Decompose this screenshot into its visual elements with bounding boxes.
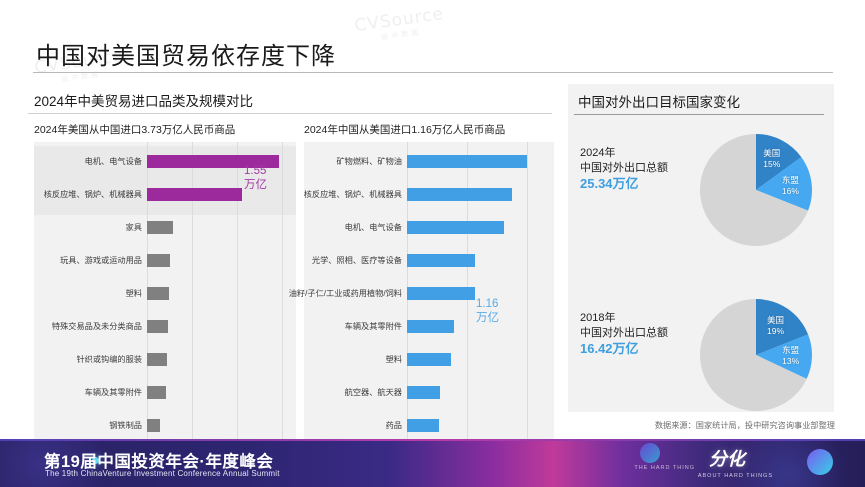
bar-label: 钢铁制品 <box>109 419 142 432</box>
bar-label: 矿物燃料、矿物油 <box>336 155 402 168</box>
bar-label: 塑料 <box>126 287 142 300</box>
chart-annotation: 1.55万亿 <box>244 164 267 192</box>
bar <box>407 188 512 201</box>
bar <box>407 155 527 168</box>
pie-caption-text: 中国对外出口总额 <box>580 161 668 176</box>
bar-row: 玩具、游戏或运动用品 <box>147 254 170 267</box>
bar-row: 核反应堆、锅炉、机械器具 <box>407 188 512 201</box>
banner-theme-logo: 分化 <box>709 445 745 471</box>
banner-orb-large <box>807 449 833 475</box>
pie-slice-label: 东盟13% <box>775 345 807 367</box>
bar-label: 针织或钩编的服装 <box>76 353 142 366</box>
bar-label: 核反应堆、锅炉、机械器具 <box>44 188 142 201</box>
bar <box>147 254 170 267</box>
bar-label: 塑料 <box>386 353 402 366</box>
source-note: 数据来源：国家统计局，投中研究咨询事业部整理 <box>655 419 835 431</box>
bar-label: 核反应堆、锅炉、机械器具 <box>304 188 402 201</box>
bar-row: 特殊交易品及未分类商品 <box>147 320 168 333</box>
gridline <box>527 142 528 482</box>
bar-row: 航空器、航天器 <box>407 386 440 399</box>
bar-row: 车辆及其零附件 <box>407 320 454 333</box>
title-divider <box>33 72 833 73</box>
bar-row: 车辆及其零附件 <box>147 386 166 399</box>
bar <box>407 386 440 399</box>
chart-b-subtitle: 2024年中国从美国进口1.16万亿人民币商品 <box>304 122 505 137</box>
bar-row: 针织或钩编的服装 <box>147 353 167 366</box>
bar-label: 航空器、航天器 <box>345 386 402 399</box>
banner-top-accent <box>0 439 865 441</box>
bar <box>407 287 475 300</box>
bar <box>407 419 439 432</box>
bar-label: 电机、电气设备 <box>345 221 402 234</box>
event-banner: 第19届中国投资年会·年度峰会 The 19th ChinaVenture In… <box>0 439 865 487</box>
chart-us-imports-from-china: 电机、电气设备核反应堆、锅炉、机械器具家具玩具、游戏或运动用品塑料特殊交易品及未… <box>34 142 296 482</box>
bar-label: 电机、电气设备 <box>85 155 142 168</box>
page-title: 中国对美国贸易依存度下降 <box>36 36 336 71</box>
pie-caption-text: 中国对外出口总额 <box>580 326 668 341</box>
bar <box>147 419 160 432</box>
bar-label: 家具 <box>126 221 142 234</box>
bar <box>407 353 451 366</box>
bar-row: 塑料 <box>147 287 169 300</box>
panel-header-divider-right <box>574 114 824 115</box>
banner-tagline-1: THE HARD THING <box>634 465 695 471</box>
bar-row: 油籽/子仁/工业或药用植物/饲料 <box>407 287 475 300</box>
bar-row: 核反应堆、锅炉、机械器具 <box>147 188 242 201</box>
bar <box>147 188 242 201</box>
watermark: CVSource投中数据 <box>353 4 446 46</box>
pie-slice-label: 美国19% <box>760 315 792 337</box>
trade-comparison-panel: 2024年中美贸易进口品类及规模对比 2024年美国从中国进口3.73万亿人民币… <box>26 84 556 412</box>
bar <box>407 320 454 333</box>
gridline <box>282 142 283 482</box>
bar <box>147 353 167 366</box>
panel-header-right: 中国对外出口目标国家变化 <box>578 91 740 111</box>
pie-block: 2024年中国对外出口总额25.34万亿美国15%东盟16% <box>568 124 834 279</box>
chart-a-subtitle: 2024年美国从中国进口3.73万亿人民币商品 <box>34 122 235 137</box>
banner-subtitle: The 19th ChinaVenture Investment Confere… <box>45 469 280 478</box>
bar-row: 矿物燃料、矿物油 <box>407 155 527 168</box>
bar-row: 钢铁制品 <box>147 419 160 432</box>
bar <box>147 287 169 300</box>
banner-orb-medium <box>640 443 660 463</box>
bar-row: 家具 <box>147 221 173 234</box>
pie-chart: 美国19%东盟13% <box>700 299 812 411</box>
bar <box>147 320 168 333</box>
pie-slice-label: 美国15% <box>756 148 788 170</box>
pie-amount: 25.34万亿 <box>580 176 668 191</box>
bar-label: 光学、照相、医疗等设备 <box>312 254 402 267</box>
pie-year: 2024年 <box>580 146 668 161</box>
chart-annotation: 1.16万亿 <box>476 297 499 325</box>
banner-tagline-2: ABOUT HARD THINGS <box>698 473 773 479</box>
bar <box>147 386 166 399</box>
pie-caption: 2018年中国对外出口总额16.42万亿 <box>580 311 668 356</box>
pie-caption: 2024年中国对外出口总额25.34万亿 <box>580 146 668 191</box>
bar-label: 油籽/子仁/工业或药用植物/饲料 <box>289 287 402 300</box>
bar <box>147 221 173 234</box>
pie-chart: 美国15%东盟16% <box>700 134 812 246</box>
bar-row: 光学、照相、医疗等设备 <box>407 254 475 267</box>
bar-row: 塑料 <box>407 353 451 366</box>
panel-header-divider <box>28 113 552 114</box>
pie-amount: 16.42万亿 <box>580 341 668 356</box>
pie-slice-label: 东盟16% <box>774 175 806 197</box>
bar-label: 药品 <box>386 419 402 432</box>
export-target-panel: 中国对外出口目标国家变化 2024年中国对外出口总额25.34万亿美国15%东盟… <box>568 84 834 412</box>
panel-header-left: 2024年中美贸易进口品类及规模对比 <box>34 90 253 110</box>
pie-year: 2018年 <box>580 311 668 326</box>
bar-label: 特殊交易品及未分类商品 <box>52 320 142 333</box>
bar-label: 车辆及其零附件 <box>85 386 142 399</box>
chart-china-imports-from-us: 矿物燃料、矿物油核反应堆、锅炉、机械器具电机、电气设备光学、照相、医疗等设备油籽… <box>304 142 554 482</box>
bar-row: 电机、电气设备 <box>407 221 504 234</box>
bar <box>407 221 504 234</box>
bar <box>407 254 475 267</box>
bar-label: 车辆及其零附件 <box>345 320 402 333</box>
bar-row: 药品 <box>407 419 439 432</box>
slide-root: CVSource投中数据 CVSource投中数据 CVSource投中数据 C… <box>0 0 865 487</box>
bar-label: 玩具、游戏或运动用品 <box>60 254 142 267</box>
